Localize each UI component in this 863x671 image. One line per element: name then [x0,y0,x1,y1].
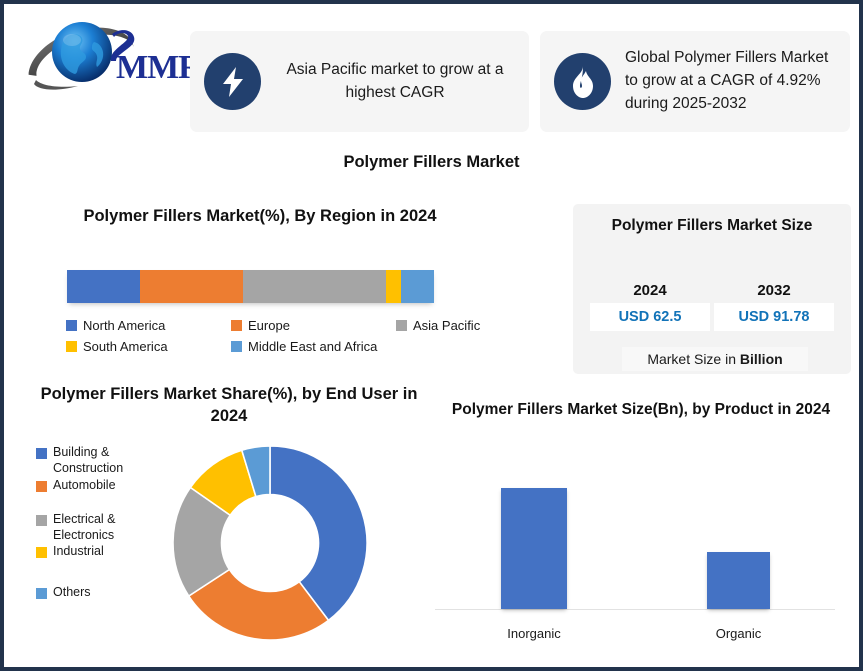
region-segment [386,270,401,303]
end-user-chart-title: Polymer Fillers Market Share(%), by End … [34,383,424,427]
legend-swatch-icon [36,515,47,526]
region-legend-label: Middle East and Africa [248,339,377,354]
region-legend-item: Europe [231,315,396,336]
region-stacked-bar [67,270,434,303]
legend-swatch-icon [36,448,47,459]
page-title: Polymer Fillers Market [4,153,859,172]
market-size-unit-note: Market Size in Billion [622,347,808,371]
product-bar [707,552,770,609]
legend-swatch-icon [36,588,47,599]
end-user-legend-label: Electrical & Electronics [53,511,161,544]
end-user-legend-item: Electrical & Electronics [36,511,161,544]
product-chart-axis [435,609,835,610]
region-legend-label: Asia Pacific [413,318,480,333]
legend-swatch-icon [231,341,242,352]
region-chart-title: Polymer Fillers Market(%), By Region in … [40,207,480,226]
header-card-asia-pacific: Asia Pacific market to grow at a highest… [190,31,529,132]
market-size-year-2024: 2024 [590,282,710,299]
market-size-value-2032: USD 91.78 [714,303,834,331]
region-legend-item: South America [66,336,231,357]
legend-swatch-icon [396,320,407,331]
region-segment [67,270,140,303]
legend-swatch-icon [36,547,47,558]
product-bar [501,488,567,609]
market-size-value-2024: USD 62.5 [590,303,710,331]
end-user-legend-label: Others [53,584,91,600]
region-legend-label: Europe [248,318,290,333]
market-size-card: Polymer Fillers Market Size 2024 USD 62.… [573,204,851,374]
region-legend-item: Asia Pacific [396,315,486,336]
region-segment [243,270,386,303]
market-size-col-2032: 2032 USD 91.78 [714,282,834,331]
legend-swatch-icon [66,341,77,352]
svg-text:MMR: MMR [116,49,195,86]
flame-icon [554,53,611,110]
legend-swatch-icon [231,320,242,331]
market-size-col-2024: 2024 USD 62.5 [590,282,710,331]
legend-swatch-icon [66,320,77,331]
product-chart-title: Polymer Fillers Market Size(Bn), by Prod… [434,400,848,421]
product-bar-label: Organic [672,626,805,641]
product-bar-chart: InorganicOrganic [429,459,849,649]
region-legend: North AmericaEuropeAsia PacificSouth Ame… [66,315,486,357]
end-user-legend-item: Others [36,584,161,600]
region-legend-item: Middle East and Africa [231,336,431,357]
end-user-legend: Building & ConstructionAutomobileElectri… [36,444,161,600]
region-segment [401,270,434,303]
region-legend-label: North America [83,318,165,333]
header-card-cagr: Global Polymer Fillers Market to grow at… [540,31,850,132]
region-legend-label: South America [83,339,168,354]
market-size-unit: Billion [740,351,783,367]
end-user-legend-label: Industrial [53,543,104,559]
region-legend-item: North America [66,315,231,336]
header-card-2-text: Global Polymer Fillers Market to grow at… [625,47,836,116]
legend-swatch-icon [36,481,47,492]
mmr-logo: MMR [20,12,195,100]
region-segment [140,270,243,303]
market-size-unit-prefix: Market Size in [647,351,740,367]
end-user-legend-label: Automobile [53,477,116,493]
infographic-page: MMR Asia Pacific market to grow at a hig… [0,0,863,671]
end-user-legend-item: Building & Construction [36,444,161,477]
end-user-legend-item: Industrial [36,543,161,559]
end-user-legend-label: Building & Construction [53,444,161,477]
market-size-year-2032: 2032 [714,282,834,299]
product-bar-label: Inorganic [466,626,602,641]
lightning-bolt-icon [204,53,261,110]
market-size-title: Polymer Fillers Market Size [573,217,851,235]
header-card-1-text: Asia Pacific market to grow at a highest… [275,59,515,105]
end-user-legend-item: Automobile [36,477,161,493]
end-user-donut-chart [164,437,379,649]
